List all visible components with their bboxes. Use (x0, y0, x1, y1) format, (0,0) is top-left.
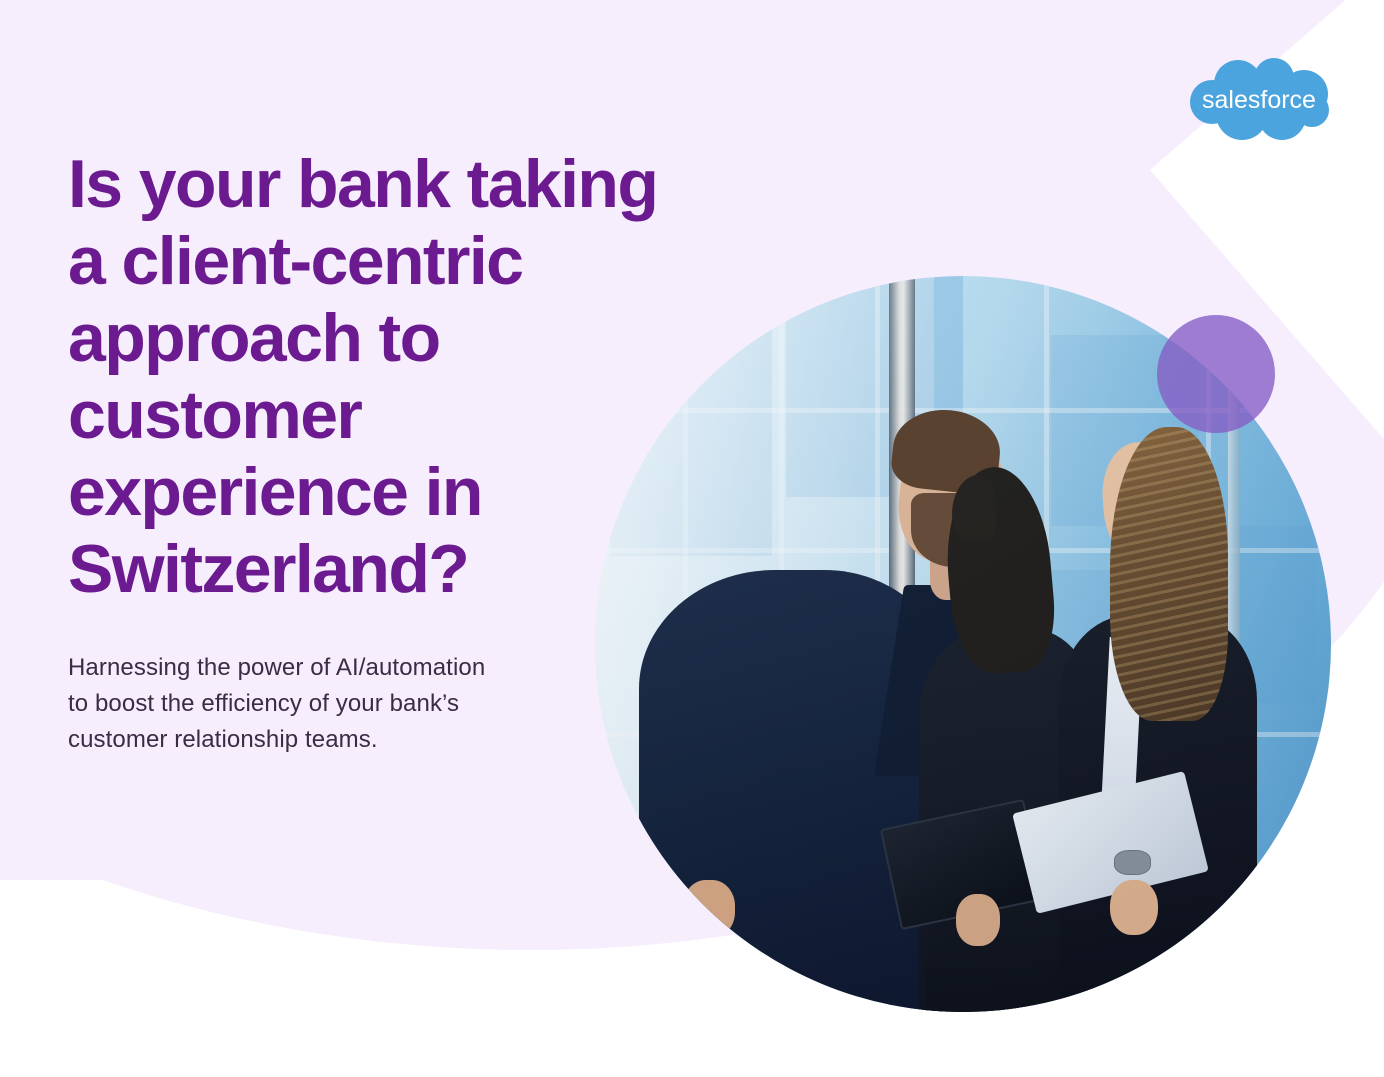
hero-text-block: Is your bank taking a client-centric app… (68, 146, 798, 758)
hair-strands (1110, 427, 1228, 721)
woman-blazer-hand (1110, 880, 1158, 935)
ebook-cover: salesforce Is your bank taking a client-… (0, 0, 1384, 1077)
page-subtitle: Harnessing the power of AI/automation to… (68, 650, 568, 758)
salesforce-wordmark: salesforce (1202, 86, 1316, 114)
page-title: Is your bank taking a client-centric app… (68, 146, 798, 608)
salesforce-cloud-logo[interactable]: salesforce (1186, 58, 1332, 144)
purple-accent-circle (1157, 315, 1275, 433)
woman-blazer-hair (1110, 427, 1228, 721)
wristwatch (1114, 850, 1151, 875)
woman-tablet-hand (956, 894, 1000, 946)
man-hand (683, 880, 735, 939)
